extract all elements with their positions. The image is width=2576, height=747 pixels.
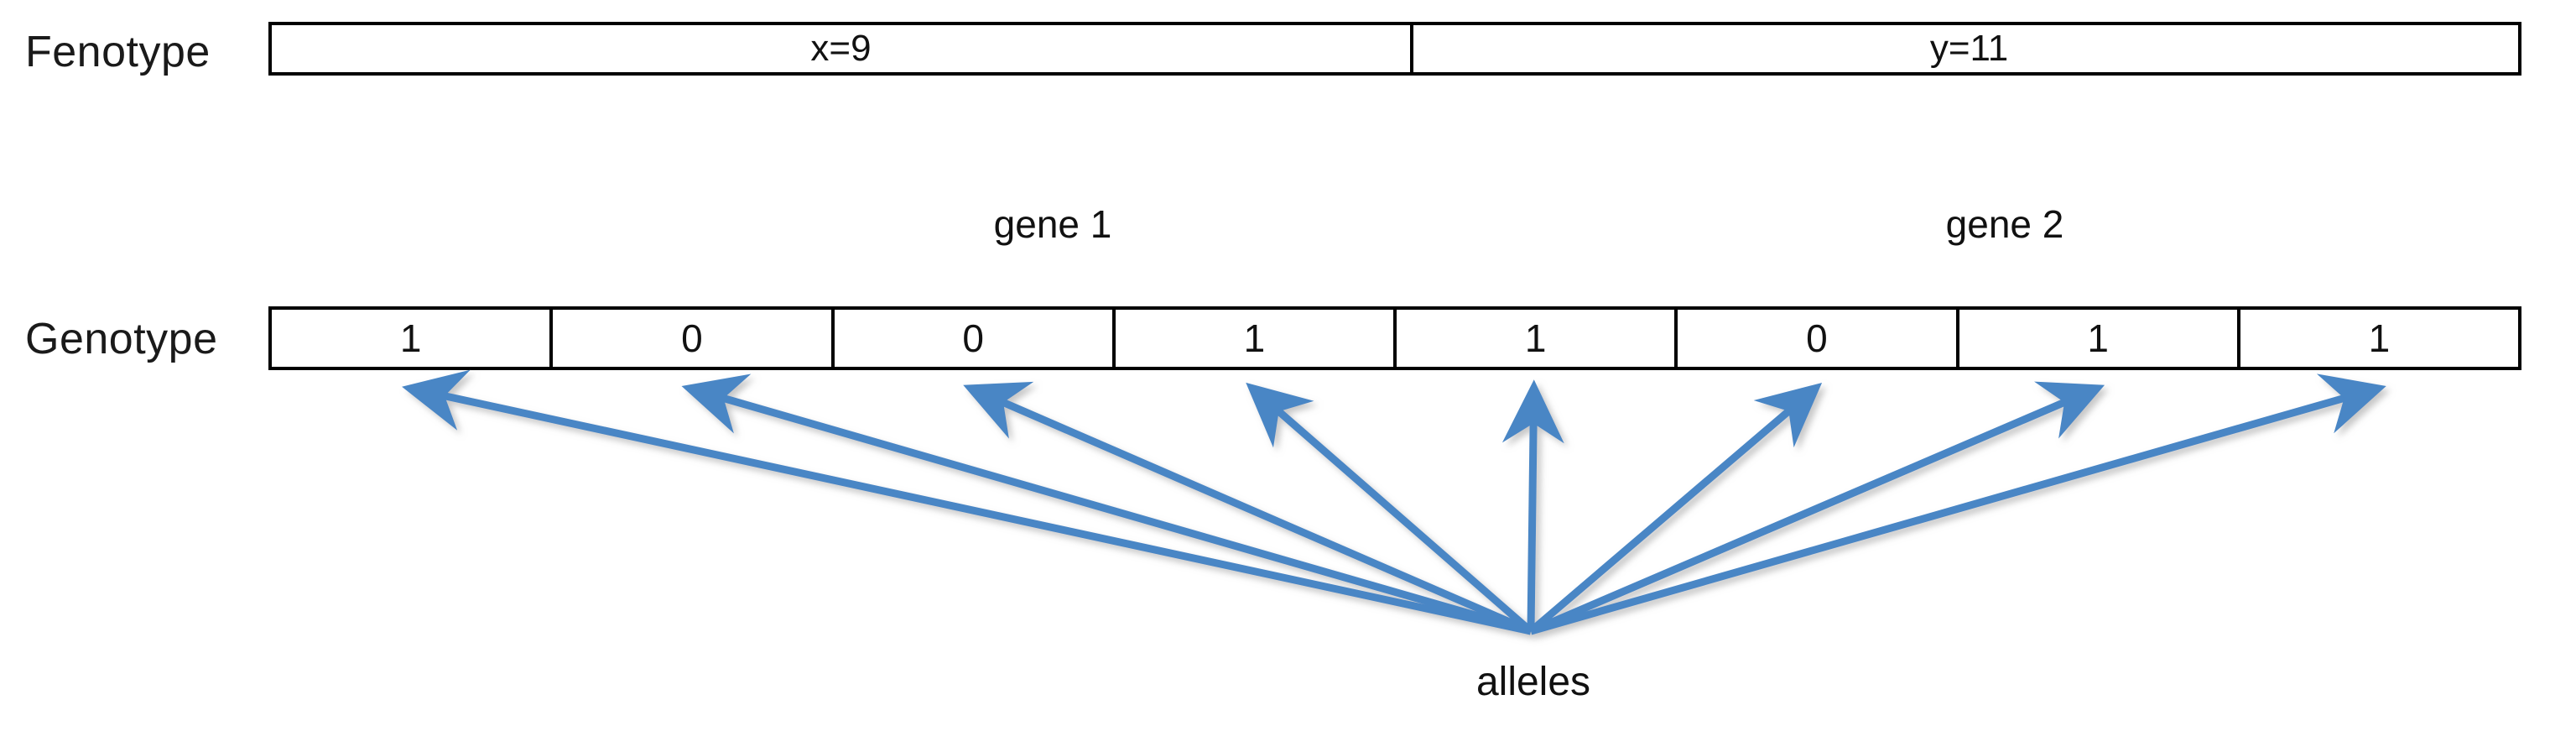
genotype-bar: 1 0 0 1 1 0 1 1	[268, 306, 2521, 370]
gene2-label: gene 2	[1946, 201, 2064, 247]
genotype-cell: 1	[1956, 310, 2237, 367]
allele-arrow-8	[1531, 389, 2377, 631]
fenotype-row-label: Fenotype	[25, 30, 211, 74]
diagram-canvas: Fenotype Genotype x=9 y=11 gene 1 gene 2…	[0, 0, 2576, 747]
genotype-cell: 0	[549, 310, 830, 367]
gene1-label: gene 1	[994, 201, 1112, 247]
genotype-cell: 1	[2237, 310, 2518, 367]
genotype-cell: 0	[1674, 310, 1955, 367]
genotype-cell: 1	[1112, 310, 1393, 367]
allele-arrow-5	[1531, 389, 1534, 631]
genotype-cell: 0	[831, 310, 1112, 367]
allele-arrow-6	[1531, 389, 1815, 631]
alleles-label: alleles	[1476, 659, 1590, 705]
fenotype-cell-x: x=9	[272, 25, 1410, 72]
arrow-overlay	[0, 0, 2576, 747]
allele-arrow-1	[411, 389, 1531, 631]
fenotype-cell-y: y=11	[1410, 25, 2525, 72]
allele-arrow-3	[971, 389, 1531, 631]
allele-arrow-4	[1252, 389, 1531, 631]
genotype-row-label: Genotype	[25, 317, 218, 361]
genotype-cell: 1	[272, 310, 549, 367]
allele-arrow-7	[1531, 389, 2096, 631]
genotype-cell: 1	[1393, 310, 1674, 367]
allele-arrow-2	[690, 389, 1531, 631]
fenotype-bar: x=9 y=11	[268, 22, 2521, 76]
